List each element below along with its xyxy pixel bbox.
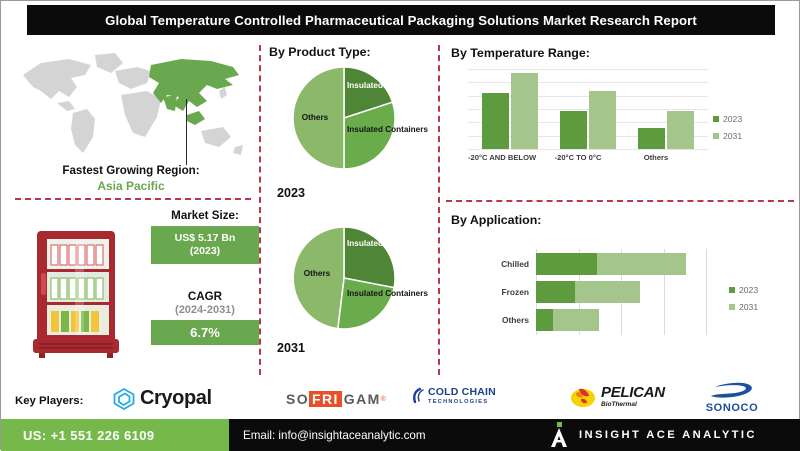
application-legend: 2023 2031 bbox=[729, 285, 758, 319]
world-map-svg bbox=[11, 45, 251, 165]
cold-chain-swoosh-icon bbox=[411, 387, 425, 405]
legend-label-2023: 2023 bbox=[723, 114, 742, 124]
hbar-2023-chilled bbox=[536, 253, 597, 275]
refrigerator-illustration bbox=[31, 229, 123, 359]
pie-2023-label-text-1: Insulated Containers bbox=[347, 125, 428, 134]
hbar-2031-chilled bbox=[597, 253, 685, 275]
map-region-japan bbox=[219, 87, 227, 99]
pie-2031-label-insulated-containers: Insulated Containers bbox=[347, 289, 403, 300]
footer-brand: INSIGHT ACE ANALYTIC bbox=[549, 419, 757, 451]
gridline bbox=[706, 249, 707, 335]
map-region-greenland bbox=[95, 53, 123, 73]
section-title-product-type: By Product Type: bbox=[269, 45, 371, 59]
sonoco-swirl-icon bbox=[705, 379, 759, 401]
legend-label-2031: 2031 bbox=[723, 131, 742, 141]
legend-swatch-2031 bbox=[729, 304, 735, 310]
divider-vertical-left bbox=[259, 45, 261, 375]
fridge-glass-reflection bbox=[75, 239, 84, 335]
bar-group-2 bbox=[634, 111, 698, 149]
bar-category-label-1: -20°C TO 0°C bbox=[546, 153, 610, 162]
pelican-bird-icon bbox=[569, 385, 597, 409]
legend-swatch-2031 bbox=[713, 133, 719, 139]
pie-chart-2031: Insulated Shippers Insulated Containers … bbox=[289, 223, 399, 333]
pie-chart-2023: Insulated Shippers Insulated Containers … bbox=[289, 63, 399, 173]
hbar-row-frozen bbox=[536, 281, 640, 303]
hbar-2023-others bbox=[536, 309, 553, 331]
key-players-label: Key Players: bbox=[15, 395, 83, 407]
divider-vertical-right bbox=[438, 45, 440, 375]
cagr-value-box: 6.7% bbox=[151, 320, 259, 345]
hbar-category-label-others: Others bbox=[479, 315, 529, 325]
logo-sonoco: SONOCO bbox=[705, 379, 759, 414]
bar-2031-2 bbox=[667, 111, 694, 149]
hbar-category-label-chilled: Chilled bbox=[479, 259, 529, 269]
fridge-base-line1 bbox=[39, 343, 113, 345]
pie-2031-label-insulated-shippers: Insulated Shippers bbox=[347, 239, 399, 250]
legend-swatch-2023 bbox=[729, 287, 735, 293]
sofrigam-text-so: SO bbox=[286, 391, 309, 407]
pie-2031-slice-insulated-shippers bbox=[344, 227, 395, 288]
gridline bbox=[468, 149, 708, 150]
bar-category-label-0: -20°C AND BELOW bbox=[468, 153, 532, 162]
sonoco-wordmark: SONOCO bbox=[706, 402, 759, 414]
pie-2023-year: 2023 bbox=[277, 186, 305, 200]
divider-right-horizontal bbox=[446, 200, 794, 202]
fastest-growing-region-block: Fastest Growing Region: Asia Pacific bbox=[11, 164, 251, 193]
hbar-2023-frozen bbox=[536, 281, 575, 303]
map-region-north-america bbox=[23, 59, 91, 99]
pie-2031-slice-insulated-containers bbox=[338, 278, 394, 329]
bar-2023-2 bbox=[638, 128, 665, 149]
cryopal-icon bbox=[113, 388, 135, 410]
pie-2023-label-others: Others bbox=[293, 113, 337, 124]
legend-swatch-2023 bbox=[713, 116, 719, 122]
bar-2031-1 bbox=[589, 91, 616, 149]
infographic-page: Global Temperature Controlled Pharmaceut… bbox=[0, 0, 800, 450]
map-region-southeast-asia-highlight bbox=[187, 111, 205, 125]
footer-phone[interactable]: US: +1 551 226 6109 bbox=[1, 428, 155, 443]
insight-ace-logo-icon bbox=[549, 422, 569, 448]
divider-left-horizontal bbox=[15, 198, 251, 200]
legend-item-2031: 2031 bbox=[729, 302, 758, 312]
logo-cold-chain-technologies: COLD CHAIN TECHNOLOGIES bbox=[411, 387, 496, 405]
logo-sofrigam: SO FRI GAM ® bbox=[286, 391, 386, 407]
cold-chain-wordmark: COLD CHAIN bbox=[428, 387, 496, 398]
map-region-africa bbox=[121, 91, 161, 137]
fridge-base bbox=[33, 339, 119, 353]
hbar-row-others bbox=[536, 309, 599, 331]
fridge-leg-left bbox=[39, 353, 45, 358]
hbar-2031-others bbox=[553, 309, 599, 331]
section-title-application: By Application: bbox=[451, 213, 541, 227]
sofrigam-text-fri: FRI bbox=[309, 391, 342, 407]
application-bar-chart bbox=[536, 249, 706, 335]
temperature-range-bar-chart bbox=[468, 69, 708, 149]
pie-2023-label-insulated-containers: Insulated Containers bbox=[347, 125, 403, 136]
section-title-temperature-range: By Temperature Range: bbox=[451, 46, 590, 60]
fastest-growing-region-value: Asia Pacific bbox=[11, 179, 251, 193]
pie-2031-year: 2031 bbox=[277, 341, 305, 355]
pie-2031-label-others: Others bbox=[295, 269, 339, 280]
bar-2031-0 bbox=[511, 73, 538, 149]
market-size-year: (2023) bbox=[155, 245, 255, 258]
fridge-leg-right bbox=[107, 353, 113, 358]
pelican-subtext: BioThermal bbox=[601, 402, 665, 409]
stats-block: Market Size: US$ 5.17 Bn (2023) CAGR (20… bbox=[151, 209, 259, 345]
bar-2023-1 bbox=[560, 111, 587, 149]
bar-category-label-2: Others bbox=[624, 153, 688, 162]
map-region-asia-highlight bbox=[149, 59, 239, 111]
cagr-period: (2024-2031) bbox=[151, 304, 259, 316]
map-region-central-america bbox=[57, 101, 75, 111]
cagr-label: CAGR bbox=[151, 290, 259, 303]
legend-label-2031: 2031 bbox=[739, 302, 758, 312]
fastest-growing-region-label: Fastest Growing Region: bbox=[11, 164, 251, 177]
footer-brand-text: INSIGHT ACE ANALYTIC bbox=[579, 429, 757, 441]
bar-2023-0 bbox=[482, 93, 509, 149]
market-size-value: US$ 5.17 Bn bbox=[155, 232, 255, 245]
fridge-door-handle bbox=[41, 273, 46, 295]
map-region-australia bbox=[201, 127, 231, 147]
pie-2023-label-insulated-shippers: Insulated Shippers bbox=[347, 81, 399, 92]
temperature-range-legend: 2023 2031 bbox=[713, 114, 742, 148]
hbar-row-chilled bbox=[536, 253, 686, 275]
pie-2031-label-text-0: Insulated Shippers bbox=[347, 239, 420, 248]
map-region-india-highlight bbox=[163, 95, 177, 111]
map-region-europe bbox=[115, 67, 151, 89]
footer-email[interactable]: Email: info@insightaceanalytic.com bbox=[229, 429, 426, 442]
legend-item-2023: 2023 bbox=[713, 114, 742, 124]
page-title: Global Temperature Controlled Pharmaceut… bbox=[105, 13, 697, 28]
legend-item-2031: 2031 bbox=[713, 131, 742, 141]
pelican-wordmark: PELICAN bbox=[601, 385, 665, 400]
map-region-new-zealand bbox=[233, 145, 243, 155]
refrigerator-svg bbox=[31, 229, 123, 359]
hbar-2031-frozen bbox=[575, 281, 640, 303]
fridge-base-line2 bbox=[39, 347, 113, 349]
pie-2031-label-text-1: Insulated Containers bbox=[347, 289, 428, 298]
gridline bbox=[468, 69, 708, 70]
footer-black-bar: Email: info@insightaceanalytic.com INSIG… bbox=[229, 419, 800, 451]
map-region-south-america bbox=[71, 109, 95, 153]
world-map bbox=[11, 45, 251, 165]
logo-cryopal: Cryopal bbox=[113, 387, 212, 410]
legend-label-2023: 2023 bbox=[739, 285, 758, 295]
map-leader-line bbox=[186, 99, 187, 165]
header-banner: Global Temperature Controlled Pharmaceut… bbox=[27, 5, 775, 35]
pie-2023-label-text-0: Insulated Shippers bbox=[347, 81, 420, 90]
market-size-box: US$ 5.17 Bn (2023) bbox=[151, 226, 259, 264]
footer-phone-bar: US: +1 551 226 6109 bbox=[1, 419, 229, 451]
pie-2023-label-text-2: Others bbox=[302, 113, 328, 122]
market-size-label: Market Size: bbox=[151, 209, 259, 222]
cryopal-wordmark: Cryopal bbox=[140, 387, 212, 410]
logo-pelican-biothermal: PELICAN BioThermal bbox=[569, 385, 665, 409]
cold-chain-subtext: TECHNOLOGIES bbox=[428, 400, 496, 406]
sofrigam-text-gam: GAM bbox=[344, 391, 381, 407]
pie-2031-label-text-2: Others bbox=[304, 269, 330, 278]
legend-item-2023: 2023 bbox=[729, 285, 758, 295]
bar-group-1 bbox=[556, 91, 620, 149]
sofrigam-trademark-icon: ® bbox=[381, 396, 386, 403]
bar-group-0 bbox=[478, 73, 542, 149]
hbar-category-label-frozen: Frozen bbox=[479, 287, 529, 297]
